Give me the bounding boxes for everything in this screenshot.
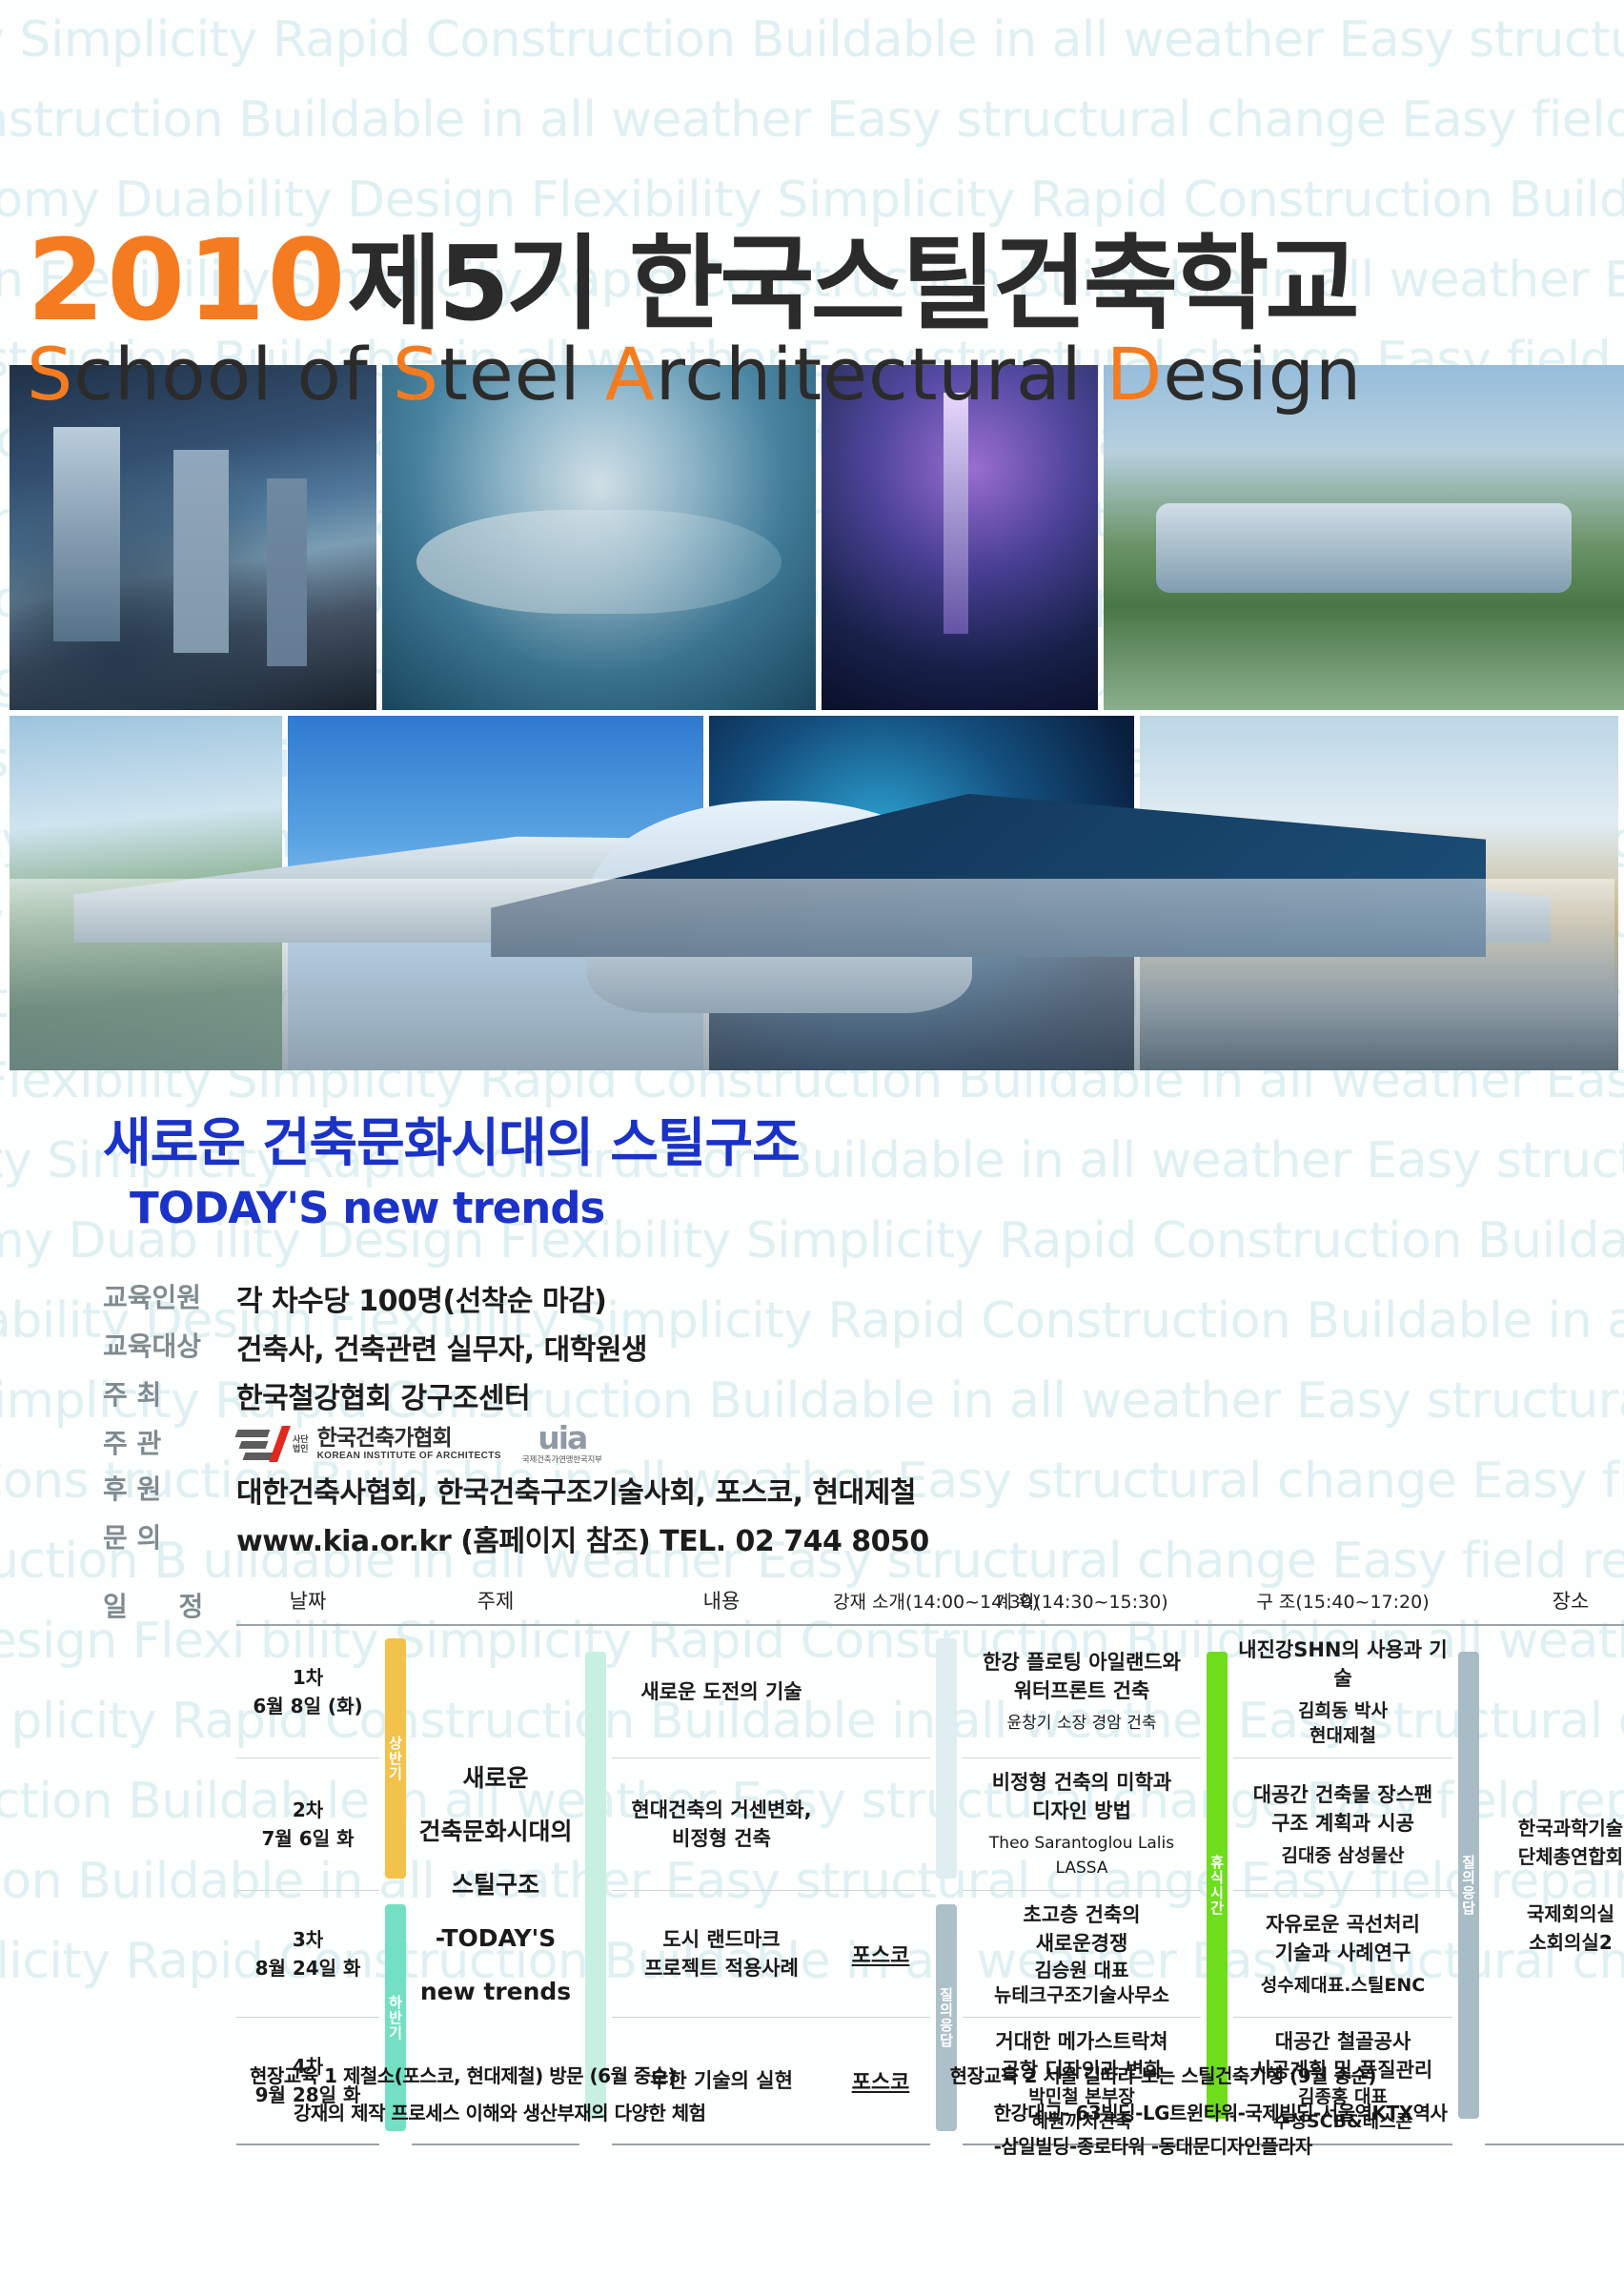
venue-line-3: 국제회의실 xyxy=(1489,1900,1624,1928)
col-header-content: 내용 xyxy=(612,1580,831,1625)
col-header-theme: 주제 xyxy=(412,1580,579,1625)
plan-title-2b: 디자인 방법 xyxy=(966,1797,1197,1825)
plan-speaker-2: Theo Sarantoglou Lalis LASSA xyxy=(966,1831,1197,1880)
strip-label-first-half: 상반기 xyxy=(385,1638,406,1879)
title-en-d: D xyxy=(1106,332,1164,417)
col-header-spacer-2 xyxy=(579,1580,612,1625)
headline-korean: 새로운 건축문화시대의 스틸구조 xyxy=(103,1113,800,1172)
session-date-1: 6월 8일 (화) xyxy=(240,1692,376,1720)
col-header-steel-intro: 강재 소개(14:00~14:30) xyxy=(831,1580,930,1625)
cell-steel-1 xyxy=(831,1625,930,1758)
uia-logo: uia 국제건축가연맹한국지부 xyxy=(522,1423,602,1465)
note-2-line-2: -삼일빌딩-종로타워 -동대문디자인플라자 xyxy=(950,2131,1448,2159)
theme-line-2: 건축문화시대의 xyxy=(416,1816,576,1848)
info-label-capacity: 교육인원 xyxy=(103,1277,236,1315)
info-row-organizer: 주 관 사단법인 한국건축가협회 KOREAN INSTITUTE OF ARC… xyxy=(103,1423,1247,1465)
info-label-host: 주 최 xyxy=(103,1374,236,1412)
info-value-capacity: 각 차수당 100명(선착순 마감) xyxy=(236,1277,606,1319)
content-text-2a: 현대건축의 거센변화, xyxy=(616,1796,827,1824)
content-text-3a: 도시 랜드마크 xyxy=(616,1925,827,1954)
headline-english: TODAY'S new trends xyxy=(130,1184,800,1233)
cell-content-2: 현대건축의 거센변화, 비정형 건축 xyxy=(612,1758,831,1891)
title-year: 2010 xyxy=(27,214,347,346)
venue-line-2: 단체총연합회 xyxy=(1489,1842,1624,1871)
title-block: 2010제5기 한국스틸건축학교 School of Steel Archite… xyxy=(0,227,1624,415)
photo-night-skyline xyxy=(822,365,1098,710)
info-value-host: 한국철강협회 강구조센터 xyxy=(236,1374,530,1416)
struct-title-2a: 대공간 건축물 장스팬 xyxy=(1237,1780,1449,1809)
title-english: School of Steel Architectural Design xyxy=(0,335,1624,415)
strip-theme-divider-bar xyxy=(585,1652,606,2119)
col-header-spacer-5 xyxy=(1452,1580,1485,1625)
session-no-3: 3차 xyxy=(240,1925,376,1954)
struct-speaker-2: 김대중 삼성물산 xyxy=(1237,1843,1449,1868)
steel-intro-3: 포스코 xyxy=(835,1939,926,1969)
cell-plan-2: 비정형 건축의 미학과 디자인 방법 Theo Sarantoglou Lali… xyxy=(963,1758,1201,1891)
theme-line-4: -TODAY'S xyxy=(416,1922,576,1955)
struct-speaker-1a: 김희동 박사 xyxy=(1237,1698,1449,1723)
info-label-sponsor: 후 원 xyxy=(103,1469,236,1507)
struct-title-4a: 대공간 철골공사 xyxy=(1237,2027,1449,2056)
strip-label-break-time: 휴식시간 xyxy=(1207,1652,1228,2119)
title-en-w3: rchitectural xyxy=(656,332,1106,417)
watermark-line: city Rapid Construction Buildable in all… xyxy=(0,80,1624,160)
cell-date-1: 1차 6월 8일 (화) xyxy=(236,1625,379,1758)
strip-first-half: 상반기 xyxy=(379,1625,412,1891)
content-text-3b: 프로젝트 적용사례 xyxy=(616,1954,827,1982)
content-text-1: 새로운 도전의 기술 xyxy=(616,1677,827,1706)
plan-title-1b: 워터프론트 건축 xyxy=(966,1676,1197,1705)
kia-logo-text: 한국건축가협회 KOREAN INSTITUTE OF ARCHITECTS xyxy=(317,1427,501,1461)
content-text-2b: 비정형 건축 xyxy=(616,1824,827,1853)
title-en-w1: chool xyxy=(73,332,296,417)
theme-line-1: 새로운 xyxy=(416,1762,576,1795)
watermark-line: bility Simplicity Rapid Construction Bui… xyxy=(0,0,1624,80)
col-header-date: 날짜 xyxy=(236,1580,379,1625)
struct-speaker-3: 성수제대표.스틸ENC xyxy=(1237,1973,1449,1998)
info-row-host: 주 최 한국철강협회 강구조센터 xyxy=(103,1374,1247,1416)
schedule-section-label: 일 정 xyxy=(103,1586,224,1624)
photo-mosaic-row-1 xyxy=(10,365,1614,710)
page-title: 2010제5기 한국스틸건축학교 xyxy=(0,227,1624,338)
note-2-title: 현장교육 2 서울 길따라 보는 스틸건축기행 (9월 중순) xyxy=(950,2061,1448,2088)
headline-block: 새로운 건축문화시대의 스틸구조 TODAY'S new trends xyxy=(103,1113,800,1233)
cell-steel-3: 포스코 xyxy=(831,1891,930,2018)
footer-notes: 현장교육 1 제철소(포스코, 현대제철) 방문 (6월 중순) 강재의 제작 … xyxy=(250,2061,1489,2159)
kia-corp-type-label: 사단법인 xyxy=(293,1434,309,1453)
plan-title-1a: 한강 플로팅 아일랜드와 xyxy=(966,1648,1197,1676)
title-en-of: of xyxy=(296,332,392,417)
session-date-3: 8월 24일 화 xyxy=(240,1954,376,1982)
info-row-audience: 교육대상 건축사, 건축관련 실무자, 대학원생 xyxy=(103,1326,1247,1368)
session-date-2: 7월 6일 화 xyxy=(240,1824,376,1853)
theme-line-5: new trends xyxy=(416,1976,576,2008)
photo-towers xyxy=(10,365,376,710)
col-header-plan: 계 획(14:30~15:30) xyxy=(963,1580,1201,1625)
kia-logo: 사단법인 한국건축가협회 KOREAN INSTITUTE OF ARCHITE… xyxy=(236,1426,501,1462)
kia-logo-korean: 한국건축가협회 xyxy=(317,1427,501,1449)
col-header-venue: 장소 xyxy=(1485,1580,1624,1625)
schedule-header-row: 날짜 주제 내용 강재 소개(14:00~14:30) 계 획(14:30~15… xyxy=(236,1580,1624,1625)
plan-speaker-3a: 김승원 대표 xyxy=(966,1958,1197,1982)
info-row-contact: 문 의 www.kia.or.kr (홈페이지 참조) TEL. 02 744 … xyxy=(103,1517,1247,1559)
cell-struct-3: 자유로운 곡선처리 기술과 사례연구 성수제대표.스틸ENC xyxy=(1233,1891,1452,2018)
plan-speaker-1: 윤창기 소장 경암 건축 xyxy=(966,1711,1197,1736)
note-2-line-1: 한강대교- 63빌딩-LG트윈타워-국제빌딩-서울역KTX역사 xyxy=(950,2098,1448,2125)
photo-station-complex xyxy=(1104,365,1624,710)
venue-line-4: 소회의실2 xyxy=(1489,1928,1624,1957)
cell-date-3: 3차 8월 24일 화 xyxy=(236,1891,379,2018)
cell-date-2: 2차 7월 6일 화 xyxy=(236,1758,379,1891)
title-en-s1: S xyxy=(27,332,73,417)
title-en-a: A xyxy=(605,332,656,417)
info-row-capacity: 교육인원 각 차수당 100명(선착순 마감) xyxy=(103,1277,1247,1319)
info-list: 교육인원 각 차수당 100명(선착순 마감) 교육대상 건축사, 건축관련 실… xyxy=(103,1277,1247,1566)
title-korean: 제5기 한국스틸건축학교 xyxy=(347,225,1355,344)
title-en-s2: S xyxy=(393,332,439,417)
kia-emblem-icon xyxy=(236,1426,286,1462)
uia-logo-text: uia xyxy=(522,1423,602,1453)
info-row-sponsor: 후 원 대한건축사협회, 한국건축구조기술사회, 포스코, 현대제철 xyxy=(103,1469,1247,1511)
kia-logo-english: KOREAN INSTITUTE OF ARCHITECTS xyxy=(317,1452,501,1461)
plan-title-4a: 거대한 메가스트락쳐 xyxy=(966,2027,1197,2056)
cell-plan-3: 초고층 건축의 새로운경쟁 김승원 대표 뉴테크구조기술사무소 xyxy=(963,1891,1201,2018)
table-row: 1차 6월 8일 (화) 상반기 새로운 건축문화시대의 스틸구조 -TODAY… xyxy=(236,1625,1624,1758)
title-en-w2: teel xyxy=(439,332,605,417)
cell-struct-1: 내진강SHN의 사용과 기술 김희동 박사 현대제철 xyxy=(1233,1625,1452,1758)
organizer-logos: 사단법인 한국건축가협회 KOREAN INSTITUTE OF ARCHITE… xyxy=(236,1423,602,1465)
plan-title-3b: 새로운경쟁 xyxy=(966,1929,1197,1958)
strip-qa-upper-bar xyxy=(936,1638,957,1879)
col-header-spacer-4 xyxy=(1201,1580,1233,1625)
struct-title-1a: 내진강SHN의 사용과 기술 xyxy=(1237,1636,1449,1693)
cell-content-1: 새로운 도전의 기술 xyxy=(612,1625,831,1758)
plan-speaker-3b: 뉴테크구조기술사무소 xyxy=(966,1982,1197,2007)
title-en-w4: esign xyxy=(1163,332,1362,417)
note-field-trip-1: 현장교육 1 제철소(포스코, 현대제철) 방문 (6월 중순) 강재의 제작 … xyxy=(250,2061,706,2159)
col-header-structure: 구 조(15:40~17:20) xyxy=(1233,1580,1452,1625)
cell-struct-2: 대공간 건축물 장스팬 구조 계획과 시공 김대중 삼성물산 xyxy=(1233,1758,1452,1891)
photo-atrium-interior xyxy=(1140,716,1618,1070)
session-no-1: 1차 xyxy=(240,1663,376,1692)
uia-logo-sub: 국제건축가연맹한국지부 xyxy=(522,1453,602,1465)
cell-content-3: 도시 랜드마크 프로젝트 적용사례 xyxy=(612,1891,831,2018)
cell-venue: 한국과학기술 단체총연합회 국제회의실 소회의실2 xyxy=(1485,1625,1624,2144)
col-header-spacer-1 xyxy=(379,1580,412,1625)
info-value-contact[interactable]: www.kia.or.kr (홈페이지 참조) TEL. 02 744 8050 xyxy=(236,1517,929,1559)
strip-qa-upper xyxy=(930,1625,963,1891)
session-no-2: 2차 xyxy=(240,1796,376,1824)
photo-mosaic-row-2 xyxy=(10,716,1614,1070)
info-label-audience: 교육대상 xyxy=(103,1326,236,1364)
cell-steel-2 xyxy=(831,1758,930,1891)
plan-title-2a: 비정형 건축의 미학과 xyxy=(966,1768,1197,1797)
plan-title-3a: 초고층 건축의 xyxy=(966,1900,1197,1929)
info-value-audience: 건축사, 건축관련 실무자, 대학원생 xyxy=(236,1326,647,1368)
note-1-title: 현장교육 1 제철소(포스코, 현대제철) 방문 (6월 중순) xyxy=(250,2061,706,2088)
struct-title-3a: 자유로운 곡선처리 xyxy=(1237,1910,1449,1939)
note-field-trip-2: 현장교육 2 서울 길따라 보는 스틸건축기행 (9월 중순) 한강대교- 63… xyxy=(950,2061,1448,2159)
poster-root: bility Simplicity Rapid Construction Bui… xyxy=(0,0,1624,2296)
note-1-line-1: 강재의 제작 프로세스 이해와 생산부재의 다양한 체험 xyxy=(250,2098,706,2125)
photo-airport-aerial xyxy=(382,365,816,710)
venue-line-1: 한국과학기술 xyxy=(1489,1814,1624,1842)
strip-label-qa-right: 질의응답 xyxy=(1458,1652,1479,2119)
cell-plan-1: 한강 플로팅 아일랜드와 워터프론트 건축 윤창기 소장 경암 건축 xyxy=(963,1625,1201,1758)
struct-title-2b: 구조 계획과 시공 xyxy=(1237,1809,1449,1838)
info-value-sponsor: 대한건축사협회, 한국건축구조기술사회, 포스코, 현대제철 xyxy=(236,1469,916,1511)
info-label-contact: 문 의 xyxy=(103,1517,236,1555)
struct-title-3b: 기술과 사례연구 xyxy=(1237,1939,1449,1967)
info-label-organizer: 주 관 xyxy=(103,1423,236,1461)
struct-speaker-1b: 현대제철 xyxy=(1237,1723,1449,1748)
theme-line-3: 스틸구조 xyxy=(416,1869,576,1901)
